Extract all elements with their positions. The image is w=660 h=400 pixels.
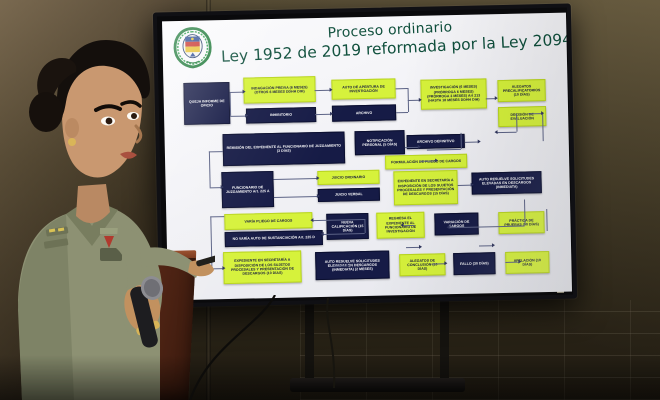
node-nueva-calificacion[interactable]: NUEVA CALIFICACIÓN (15 DÍAS) (326, 213, 369, 240)
arrow-head (471, 183, 474, 187)
arrow-head (330, 88, 333, 92)
arrow-head (419, 98, 422, 102)
node-fallo[interactable]: FALLO (30 DÍAS) (453, 252, 495, 275)
arrow-head (400, 223, 403, 227)
arrow-head (419, 245, 422, 249)
node-expediente-secretaria-15[interactable]: EXPEDIENTE EN SECRETARÍA A DISPOSICIÓN D… (393, 170, 458, 205)
photo-scene: Proceso ordinario Ley 1952 de 2019 refor… (0, 0, 660, 400)
connector (396, 112, 408, 113)
tv-screen: Proceso ordinario Ley 1952 de 2019 refor… (162, 13, 572, 301)
connector (315, 114, 331, 115)
node-archivo[interactable]: ARCHIVO (332, 104, 396, 121)
node-no-varia-auto[interactable]: NO VARÍA AUTO DE SUSTANCIACIÓN Art. 225 … (225, 230, 323, 247)
connector (406, 247, 420, 248)
arrow-head (418, 145, 421, 149)
arrow-head (346, 263, 349, 267)
node-practica-pruebas[interactable]: PRÁCTICA DE PRUEBAS (90 DÍAS) (498, 211, 544, 234)
arrow-head (222, 266, 225, 270)
connector (546, 209, 547, 231)
connector (427, 149, 461, 151)
arrow-head (310, 218, 313, 222)
node-notificacion-personal[interactable]: NOTIFICACIÓN PERSONAL (5 DÍAS) (354, 130, 405, 155)
node-auto-resuelve-1[interactable]: AUTO RESUELVE SOLICITUDES ELEVADAS EN DE… (471, 171, 541, 195)
arrow-head (330, 112, 333, 116)
connector (273, 178, 317, 180)
node-indagacion-previa[interactable]: INDAGACIÓN PREVIA (6 MESES) (OTROS 6 MES… (243, 76, 316, 104)
slide-title: Proceso ordinario Ley 1952 de 2019 refor… (220, 14, 561, 66)
node-variacion-cargos[interactable]: VARIACIÓN DE CARGOS (434, 213, 478, 236)
connector (396, 88, 408, 89)
node-auto-resuelve-2[interactable]: AUTO RESUELVE SOLICITUDES ELEVADAS EN DE… (315, 250, 390, 280)
node-alegatos-conclusion[interactable]: ALEGATOS DE CONCLUSIÓN (10 DÍAS) (399, 253, 445, 276)
arrow-head (317, 194, 320, 198)
presentation-slide: Proceso ordinario Ley 1952 de 2019 refor… (162, 13, 572, 301)
arrow-head (316, 176, 319, 180)
node-juicio-verbal[interactable]: JUICIO VERBAL (318, 188, 380, 202)
connector (479, 245, 493, 246)
arrow-head (245, 114, 248, 118)
node-varia-pliego[interactable]: VARÍA PLIEGO DE CARGOS (224, 212, 312, 230)
arrow-head (321, 232, 324, 236)
arrow-head (518, 260, 521, 264)
television-display: Proceso ordinario Ley 1952 de 2019 refor… (153, 3, 577, 307)
node-investigacion[interactable]: INVESTIGACIÓN (6 MESES) (PRÓRROGA 6 MESE… (420, 78, 487, 109)
arrow-head (447, 225, 450, 229)
arrow-head (494, 130, 497, 134)
arrow-head (492, 243, 495, 247)
node-expediente-secretaria-10[interactable]: EXPEDIENTE EN SECRETARÍA A DISPOSICIÓN D… (223, 250, 302, 284)
arrow-head (541, 111, 544, 115)
connector (230, 92, 244, 93)
arrow-head (444, 261, 447, 265)
arrow-head (243, 90, 246, 94)
node-auto-apertura[interactable]: AUTO DE APERTURA DE INVESTIGACIÓN (331, 78, 395, 99)
node-remision-expediente[interactable]: REMISIÓN DEL EXPEDIENTE AL FUNCIONARIO D… (222, 131, 345, 166)
node-decision-evaluacion[interactable]: DECISIÓN DE EVALUACIÓN (498, 106, 546, 127)
node-funcionario-juzgamiento[interactable]: FUNCIONARIO DE JUZGAMIENTO Art. 225 A (221, 171, 274, 208)
signal-cable (310, 298, 370, 388)
connector (230, 116, 246, 117)
connector (274, 196, 318, 198)
connector (458, 185, 472, 186)
connector (497, 132, 517, 133)
power-cable (150, 295, 290, 400)
arrow-head (435, 158, 438, 162)
arrow-head (478, 139, 481, 143)
connector (315, 90, 331, 91)
node-alegatos-precalificatorios[interactable]: ALEGATOS PRECALIFICATORIOS (10 DÍAS) (497, 79, 545, 102)
connector (465, 142, 479, 143)
node-juicio-ordinario[interactable]: JUICIO ORDINARIO (317, 170, 379, 185)
arrow-head (221, 185, 224, 189)
connector (230, 92, 232, 116)
arrow-head (495, 96, 498, 100)
node-inhibitorio[interactable]: INHIBITORIO (246, 107, 316, 124)
